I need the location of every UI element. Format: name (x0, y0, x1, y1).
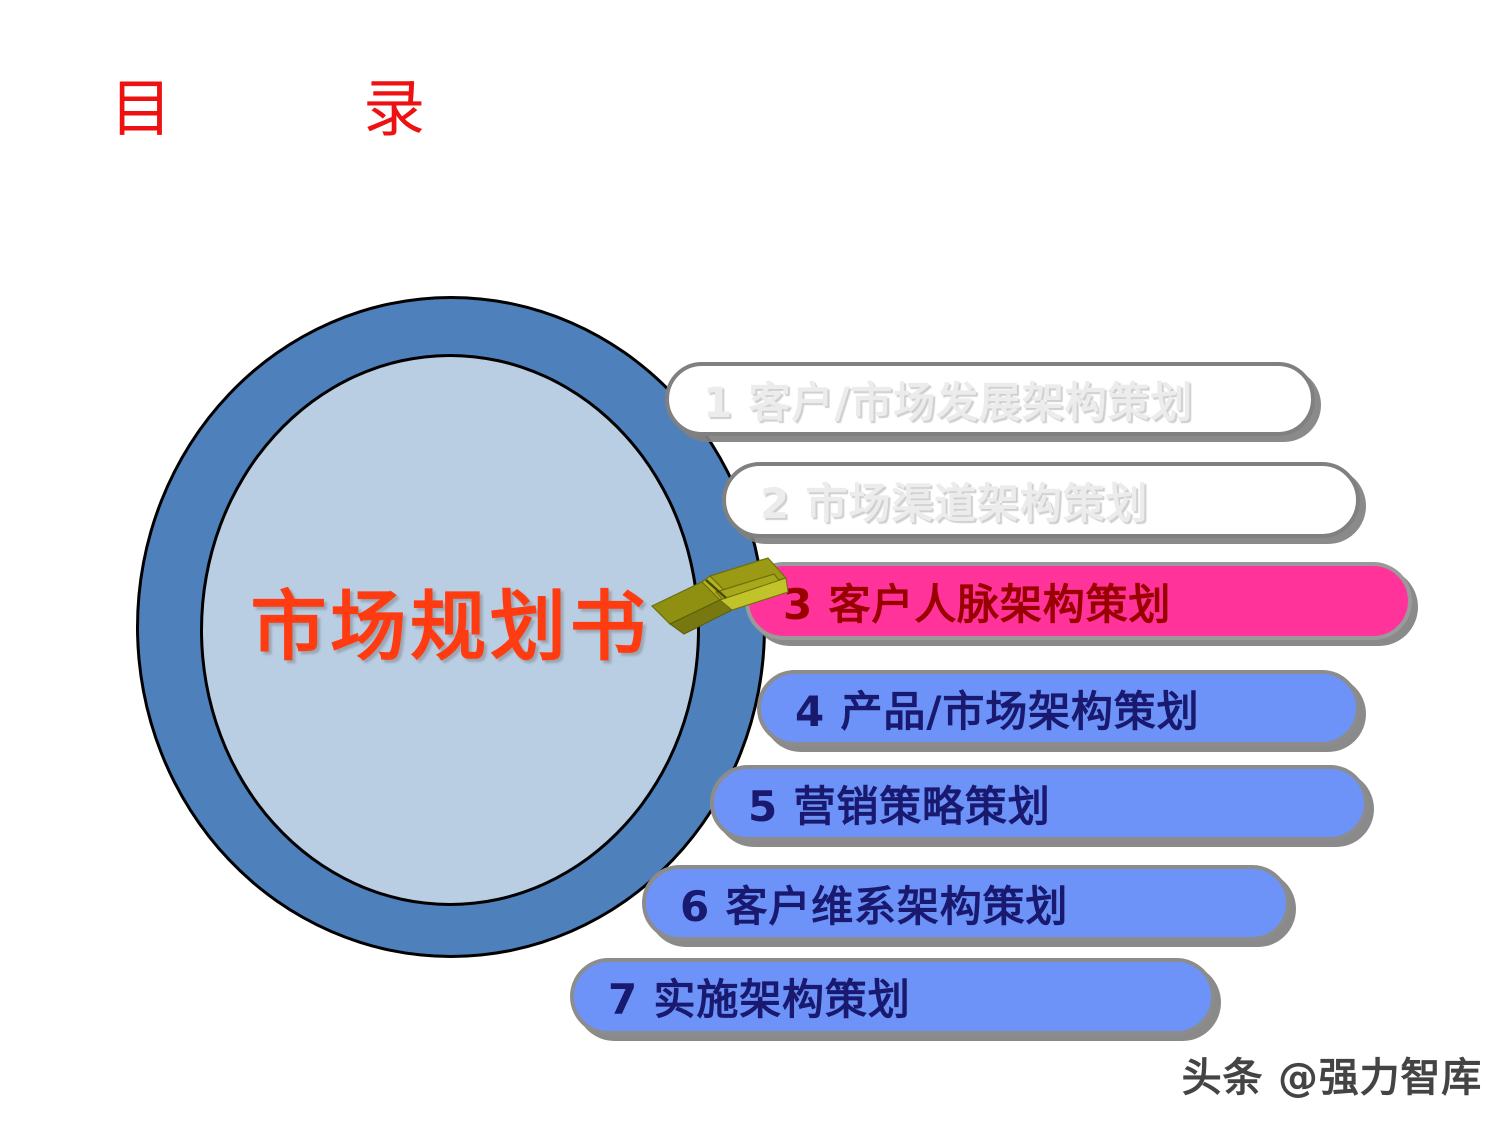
center-title-label: 市场规划书 (200, 565, 700, 675)
page-title: 目 录 (110, 78, 429, 140)
contents-item-1-label: 1 客户/市场发展架构策划 (669, 369, 1193, 430)
contents-item-5-label: 5 营销策略策划 (714, 773, 1051, 834)
contents-item-5[interactable]: 5 营销策略策划 (710, 765, 1368, 841)
contents-item-2-label: 2 市场渠道架构策划 (726, 470, 1148, 531)
contents-item-6-label: 6 客户维系架构策划 (646, 873, 1068, 934)
contents-item-4[interactable]: 4 产品/市场架构策划 (757, 670, 1360, 746)
contents-item-3[interactable]: 3 客户人脉架构策划 (745, 562, 1412, 640)
contents-item-7[interactable]: 7 实施架构策划 (570, 958, 1215, 1035)
contents-item-1[interactable]: 1 客户/市场发展架构策划 (665, 362, 1315, 436)
contents-item-3-label: 3 客户人脉架构策划 (749, 571, 1171, 632)
watermark-label: 头条 @强力智库 (1182, 1045, 1482, 1103)
contents-item-4-label: 4 产品/市场架构策划 (761, 678, 1199, 739)
slide-canvas: 目 录 市场规划书 1 客户/市场发展架构策划 2 市场渠道架构策划 3 客户人… (0, 0, 1500, 1125)
contents-item-7-label: 7 实施架构策划 (574, 966, 911, 1027)
contents-item-2[interactable]: 2 市场渠道架构策划 (722, 462, 1360, 538)
contents-item-6[interactable]: 6 客户维系架构策划 (642, 865, 1290, 941)
